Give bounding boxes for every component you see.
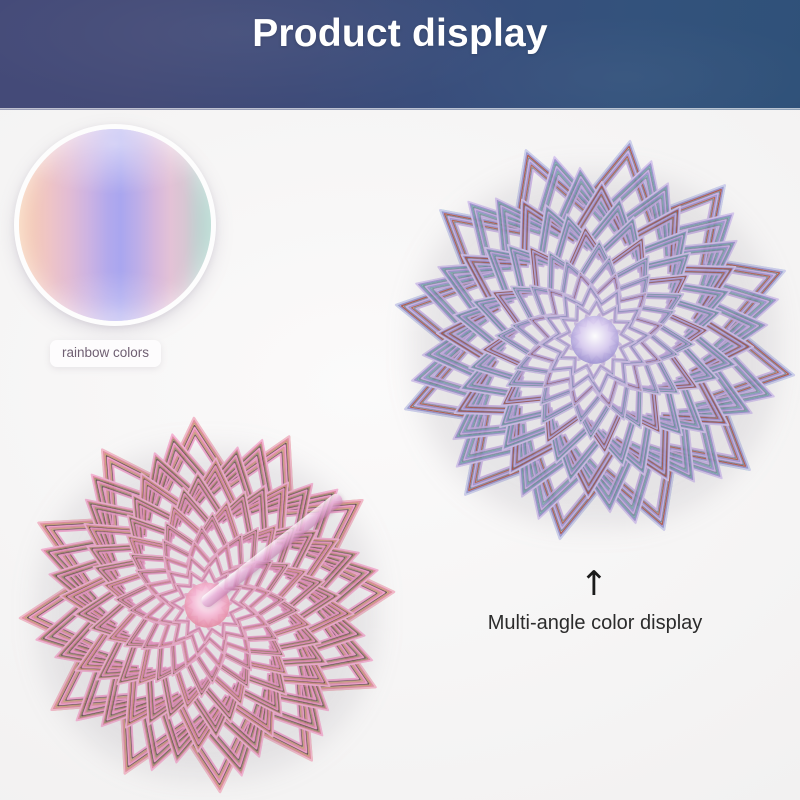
product-photo-stage: rainbow colors ↑ Multi-angle color displ… xyxy=(0,110,800,800)
swatch-label: rainbow colors xyxy=(50,340,161,367)
spinner-ring xyxy=(12,410,402,800)
kinetic-spiral-spinner-pink xyxy=(12,410,402,800)
spinner-ring xyxy=(124,522,289,687)
header-banner: Product display xyxy=(0,0,800,110)
spinner-geometry xyxy=(12,410,402,800)
spinner-ring xyxy=(12,410,402,800)
arrow-up-icon: ↑ xyxy=(576,565,612,603)
spinner-ring xyxy=(12,410,402,800)
product-display-page: Product display rainbow colors ↑ Multi-a… xyxy=(0,0,800,800)
kinetic-spiral-spinner-purple xyxy=(385,130,800,550)
spinner-geometry xyxy=(385,130,800,550)
spinner-ring xyxy=(12,410,402,800)
caption-label: Multi-angle color display xyxy=(420,610,770,636)
swatch-gradient-disc xyxy=(19,129,211,321)
page-title: Product display xyxy=(0,2,800,66)
rainbow-color-swatch xyxy=(14,124,216,326)
